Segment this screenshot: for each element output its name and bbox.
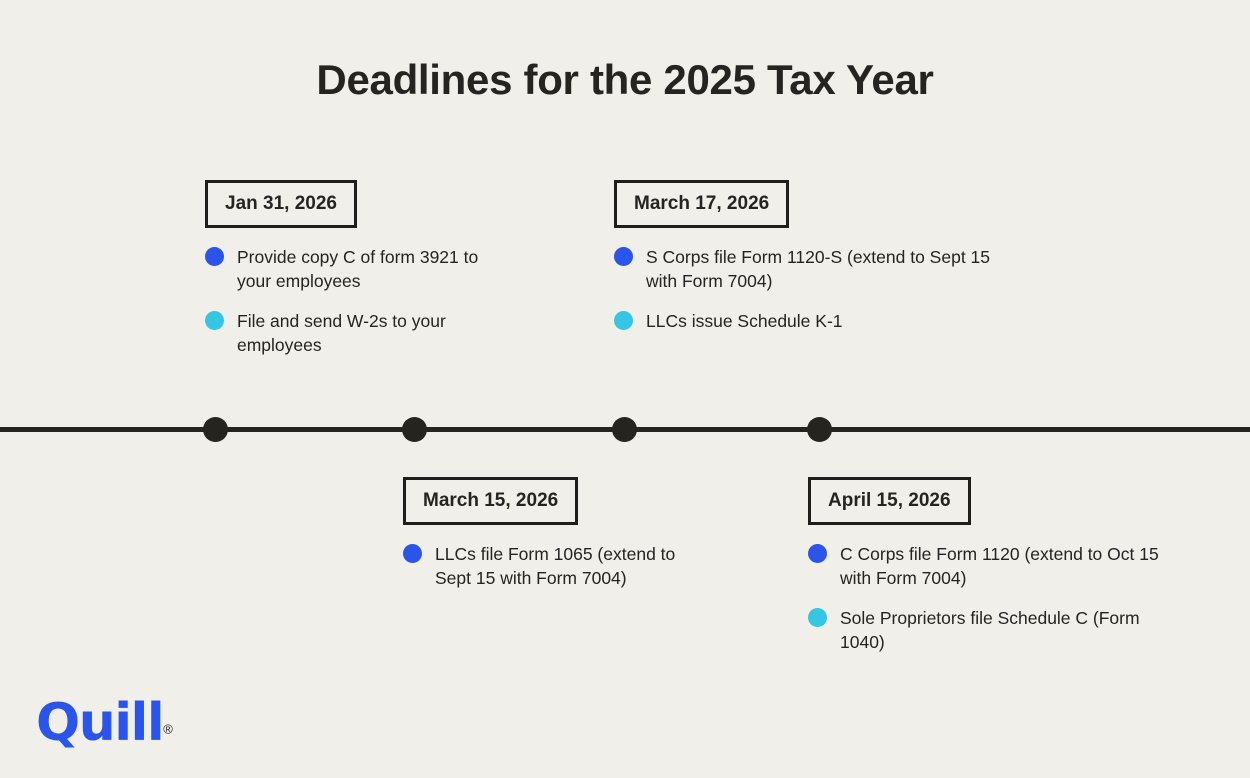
timeline-dot-3: [807, 417, 832, 442]
deadline-list: LLCs file Form 1065 (extend to Sept 15 w…: [403, 542, 703, 590]
infographic-canvas: Deadlines for the 2025 Tax Year Jan 31, …: [0, 0, 1250, 778]
registered-trademark-icon: ®: [163, 722, 173, 737]
milestone-march-15-2026: March 15, 2026 LLCs file Form 1065 (exte…: [403, 477, 703, 590]
deadline-list: Provide copy C of form 3921 to your empl…: [205, 245, 505, 357]
bullet-dot-icon: [403, 544, 422, 563]
list-item: S Corps file Form 1120-S (extend to Sept…: [614, 245, 994, 293]
deadline-text: C Corps file Form 1120 (extend to Oct 15…: [840, 542, 1188, 590]
deadline-text: Provide copy C of form 3921 to your empl…: [237, 245, 505, 293]
date-badge: Jan 31, 2026: [205, 180, 357, 228]
timeline-dot-1: [402, 417, 427, 442]
logo-wordmark: Quill: [36, 693, 163, 753]
deadline-text: LLCs issue Schedule K-1: [646, 309, 843, 333]
milestone-april-15-2026: April 15, 2026 C Corps file Form 1120 (e…: [808, 477, 1188, 654]
bullet-dot-icon: [205, 311, 224, 330]
deadline-list: S Corps file Form 1120-S (extend to Sept…: [614, 245, 994, 333]
deadline-text: LLCs file Form 1065 (extend to Sept 15 w…: [435, 542, 703, 590]
bullet-dot-icon: [808, 608, 827, 627]
timeline-dot-2: [612, 417, 637, 442]
timeline-dot-0: [203, 417, 228, 442]
list-item: Sole Proprietors file Schedule C (Form 1…: [808, 606, 1188, 654]
bullet-dot-icon: [808, 544, 827, 563]
deadline-text: Sole Proprietors file Schedule C (Form 1…: [840, 606, 1188, 654]
date-badge: April 15, 2026: [808, 477, 971, 525]
list-item: LLCs file Form 1065 (extend to Sept 15 w…: [403, 542, 703, 590]
list-item: Provide copy C of form 3921 to your empl…: [205, 245, 505, 293]
bullet-dot-icon: [205, 247, 224, 266]
bullet-dot-icon: [614, 311, 633, 330]
deadline-text: S Corps file Form 1120-S (extend to Sept…: [646, 245, 994, 293]
list-item: C Corps file Form 1120 (extend to Oct 15…: [808, 542, 1188, 590]
list-item: LLCs issue Schedule K-1: [614, 309, 994, 333]
deadline-list: C Corps file Form 1120 (extend to Oct 15…: [808, 542, 1188, 654]
bullet-dot-icon: [614, 247, 633, 266]
deadline-text: File and send W-2s to your employees: [237, 309, 505, 357]
page-title: Deadlines for the 2025 Tax Year: [0, 56, 1250, 104]
date-badge: March 15, 2026: [403, 477, 578, 525]
milestone-jan-31-2026: Jan 31, 2026 Provide copy C of form 3921…: [205, 180, 505, 357]
list-item: File and send W-2s to your employees: [205, 309, 505, 357]
quill-logo: Quill®: [36, 693, 176, 753]
date-badge: March 17, 2026: [614, 180, 789, 228]
milestone-march-17-2026: March 17, 2026 S Corps file Form 1120-S …: [614, 180, 994, 333]
